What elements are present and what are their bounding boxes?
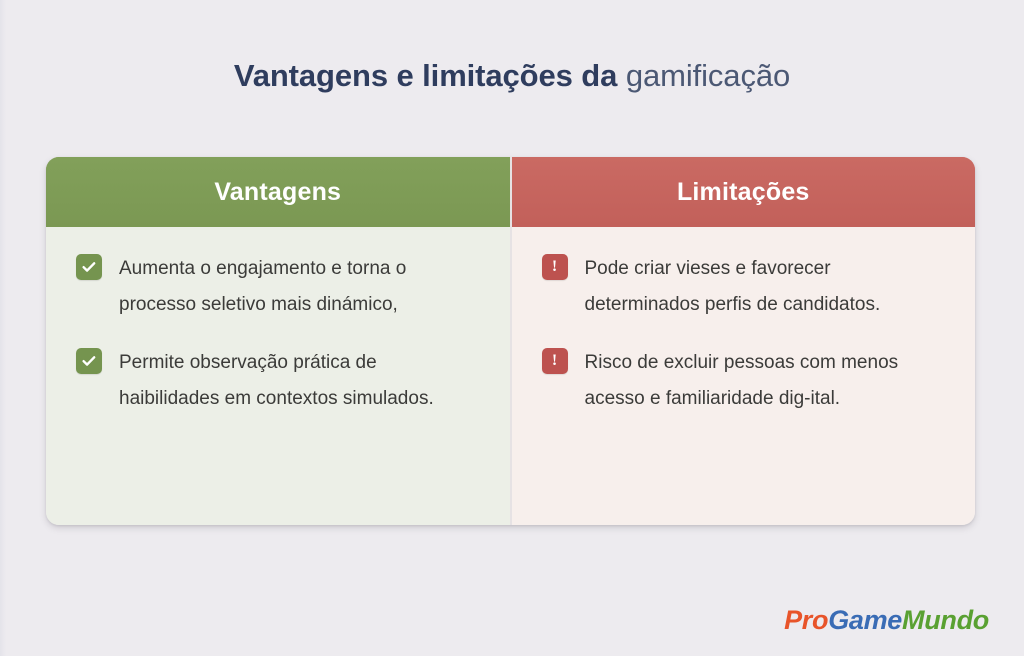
- page-title-strong: Vantagens e limitações da: [234, 58, 617, 93]
- list-item: Permite observação prática de haibilidad…: [76, 345, 480, 417]
- list-item: ! Pode criar vieses e favorecer determin…: [542, 251, 946, 323]
- exclamation-icon: !: [542, 348, 568, 374]
- check-icon: [76, 348, 102, 374]
- list-item-text: Risco de excluir pessoas com menos acess…: [585, 345, 915, 417]
- column-header-limitations: Limitações: [512, 157, 976, 227]
- brand-logo-part-game: Game: [828, 605, 902, 635]
- column-advantages: Vantagens Aumenta o engajamento e torna …: [46, 157, 510, 525]
- list-item: ! Risco de excluir pessoas com menos ace…: [542, 345, 946, 417]
- comparison-card: Vantagens Aumenta o engajamento e torna …: [46, 157, 975, 525]
- column-header-advantages: Vantagens: [46, 157, 510, 227]
- column-body-limitations: ! Pode criar vieses e favorecer determin…: [512, 227, 976, 525]
- list-item-text: Pode criar vieses e favorecer determinad…: [585, 251, 915, 323]
- column-limitations: Limitações ! Pode criar vieses e favorec…: [510, 157, 976, 525]
- brand-logo: ProGameMundo: [784, 605, 989, 636]
- column-body-advantages: Aumenta o engajamento e torna o processo…: [46, 227, 510, 525]
- check-icon: [76, 254, 102, 280]
- slide-left-edge-sheen: [0, 0, 6, 656]
- brand-logo-part-mundo: Mundo: [902, 605, 989, 635]
- exclamation-icon: !: [542, 254, 568, 280]
- list-item-text: Permite observação prática de haibilidad…: [119, 345, 449, 417]
- brand-logo-part-pro: Pro: [784, 605, 828, 635]
- page-title-light: gamificação: [626, 58, 790, 93]
- list-item: Aumenta o engajamento e torna o processo…: [76, 251, 480, 323]
- page-title: Vantagens e limitações da gamificação: [0, 58, 1024, 94]
- list-item-text: Aumenta o engajamento e torna o processo…: [119, 251, 449, 323]
